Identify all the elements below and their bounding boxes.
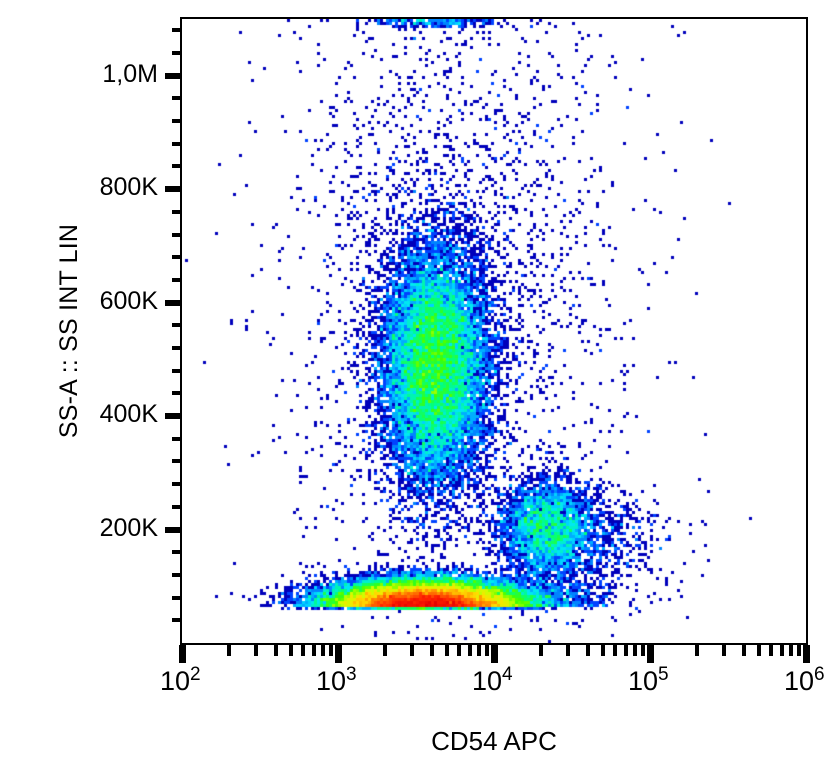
x-axis-minor-tick [485, 645, 489, 656]
y-axis-tick-label: 200K [100, 516, 158, 541]
y-axis-tick-label: 400K [100, 402, 158, 427]
x-axis-minor-tick [274, 645, 278, 656]
x-axis-minor-tick [301, 645, 305, 656]
x-tick-exponent: 2 [190, 664, 201, 685]
x-axis-minor-tick [321, 645, 325, 656]
x-tick-exponent: 6 [814, 664, 825, 685]
x-axis-minor-tick [789, 645, 793, 656]
x-axis-minor-tick [613, 645, 617, 656]
x-axis-minor-tick [410, 645, 414, 656]
x-axis-minor-tick [254, 645, 258, 656]
x-tick-base: 10 [472, 666, 502, 696]
x-axis-minor-tick [601, 645, 605, 656]
x-axis-minor-tick [539, 645, 543, 656]
x-axis-minor-tick [586, 645, 590, 656]
x-axis-minor-tick [769, 645, 773, 656]
x-axis-minor-tick [566, 645, 570, 656]
x-axis-minor-tick [722, 645, 726, 656]
x-tick-exponent: 3 [346, 664, 357, 685]
x-axis-tick-label: 106 [784, 668, 825, 695]
x-axis-minor-tick [641, 645, 645, 656]
x-axis-major-tick [647, 645, 654, 663]
x-axis-minor-tick [430, 645, 434, 656]
x-axis-minor-tick [757, 645, 761, 656]
y-axis-tick-label: 800K [100, 175, 158, 200]
x-axis-major-tick [803, 645, 810, 663]
y-axis-tick-label: 600K [100, 289, 158, 314]
x-tick-base: 10 [316, 666, 346, 696]
x-tick-exponent: 4 [502, 664, 513, 685]
x-axis-minor-tick [383, 645, 387, 656]
x-axis-minor-tick [312, 645, 316, 656]
x-axis-minor-tick [329, 645, 333, 656]
x-axis-minor-tick [227, 645, 231, 656]
x-axis-minor-tick [289, 645, 293, 656]
x-tick-base: 10 [628, 666, 658, 696]
x-axis-minor-tick [695, 645, 699, 656]
x-axis-minor-tick [624, 645, 628, 656]
x-axis-minor-tick [477, 645, 481, 656]
x-axis-title: CD54 APC [180, 726, 808, 757]
x-axis-tick-label: 103 [316, 668, 357, 695]
x-axis-tick-label: 104 [472, 668, 513, 695]
x-axis-minor-tick [468, 645, 472, 656]
x-axis-minor-tick [633, 645, 637, 656]
y-axis-title: SS-A :: SS INT LIN [46, 17, 92, 645]
x-axis-minor-tick [742, 645, 746, 656]
flow-cytometry-plot: SS-A :: SS INT LIN 1,0M800K600K400K200K … [0, 0, 832, 780]
x-axis-major-tick [179, 645, 186, 663]
x-tick-base: 10 [160, 666, 190, 696]
x-axis-minor-tick [457, 645, 461, 656]
x-axis-minor-tick [797, 645, 801, 656]
density-scatter-canvas [182, 19, 806, 643]
x-axis-tick-label: 102 [160, 668, 201, 695]
y-axis-tick-label: 1,0M [102, 62, 158, 87]
x-tick-exponent: 5 [658, 664, 669, 685]
x-axis-minor-tick [445, 645, 449, 656]
x-axis-tick-label: 105 [628, 668, 669, 695]
x-tick-base: 10 [784, 666, 814, 696]
x-axis-minor-tick [780, 645, 784, 656]
x-axis-major-tick [335, 645, 342, 663]
plot-area [180, 17, 808, 645]
x-axis-major-tick [491, 645, 498, 663]
